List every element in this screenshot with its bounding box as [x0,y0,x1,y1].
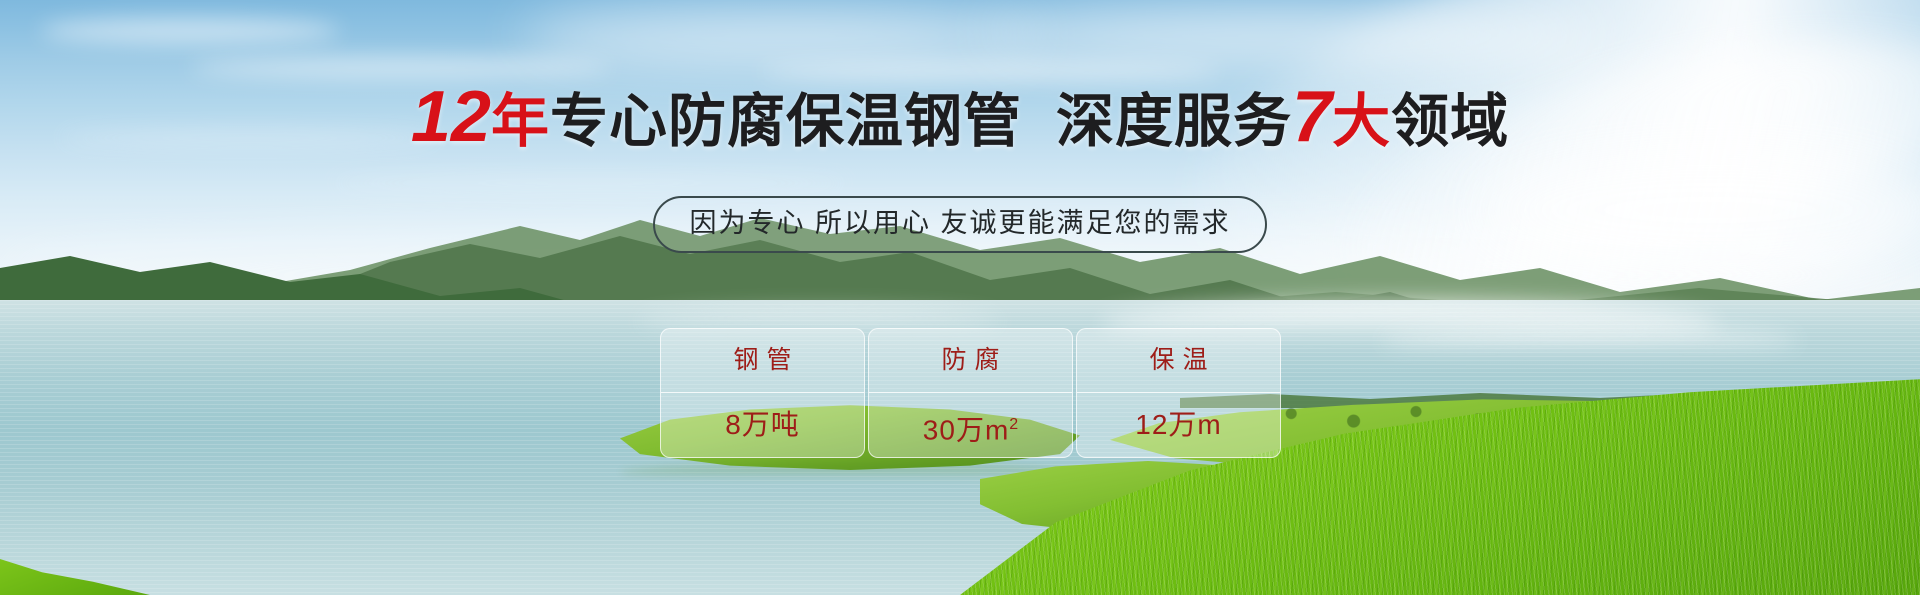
stat-value-main: 30万m [923,414,1009,445]
stat-value-main: 12万m [1135,409,1221,440]
stat-card-anticorrosion[interactable]: 防腐 30万m2 [868,328,1073,458]
hero-banner: 12年专心防腐保温钢管深度服务7大领域 因为专心 所以用心 友诚更能满足您的需求… [0,0,1920,595]
stat-value-superscript: 2 [1009,416,1018,433]
stat-card-steel-pipe[interactable]: 钢管 8万吨 [660,328,865,458]
headline-fields-text: 领域 [1391,89,1509,154]
water-highlight [1380,326,1800,356]
tagline-container: 因为专心 所以用心 友诚更能满足您的需求 [0,196,1920,253]
stat-card-value: 30万m2 [923,392,1018,458]
headline-years-number: 12 [411,77,491,157]
stat-card-group: 钢管 8万吨 防腐 30万m2 保温 12万m [660,328,1281,458]
card-divider [869,392,1072,393]
stat-card-label: 保温 [1141,329,1215,392]
card-divider [661,392,864,393]
stat-value-main: 8万吨 [725,409,800,440]
stat-card-value: 12万m [1135,392,1221,458]
card-divider [1077,392,1280,393]
stat-card-insulation[interactable]: 保温 12万m [1076,328,1281,458]
stat-card-label: 防腐 [933,329,1007,392]
headline-main-text: 专心防腐保温钢管 [550,89,1022,154]
stat-card-label: 钢管 [725,329,799,392]
headline-fields-number: 7 [1292,77,1332,157]
tagline-pill: 因为专心 所以用心 友诚更能满足您的需求 [653,196,1266,253]
headline-fields-unit: 大 [1332,89,1391,154]
stat-card-value: 8万吨 [725,392,800,458]
headline: 12年专心防腐保温钢管深度服务7大领域 [0,84,1920,155]
headline-service-text: 深度服务 [1056,89,1292,154]
headline-years-unit: 年 [491,89,550,154]
